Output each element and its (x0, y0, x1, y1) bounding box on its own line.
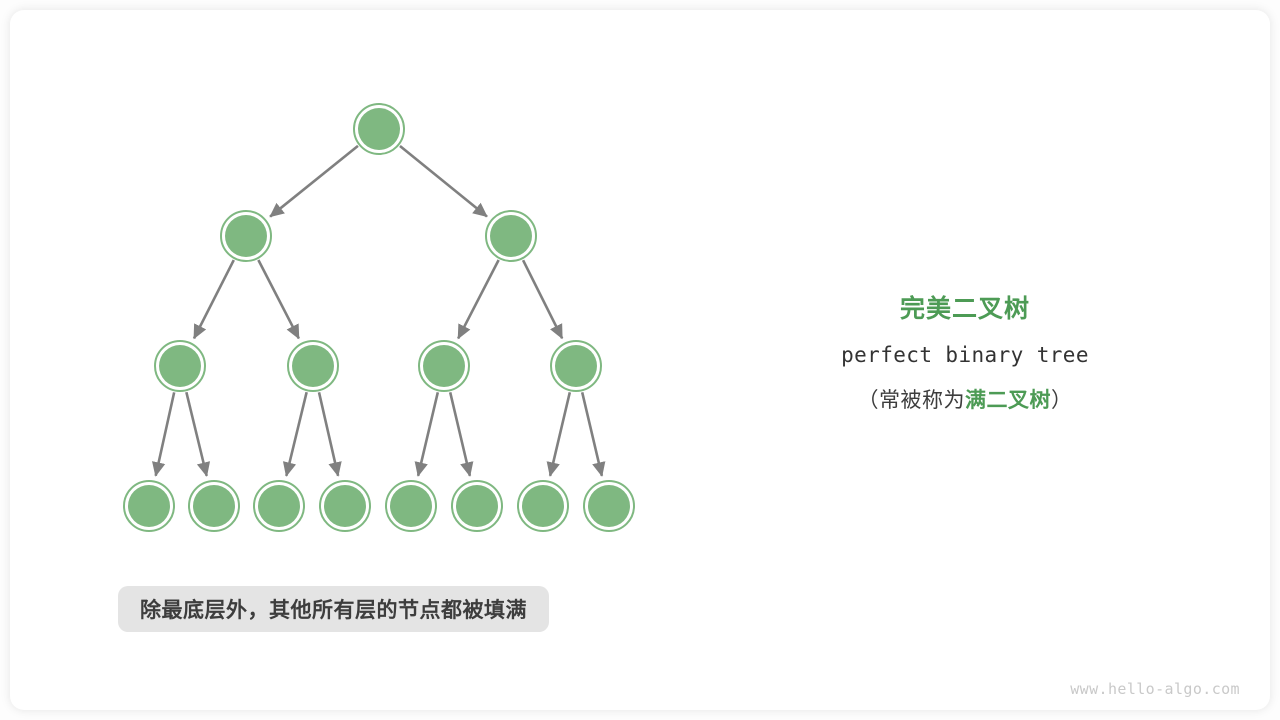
tree-node-body (358, 108, 400, 150)
tree-node (452, 481, 502, 531)
tree-edge (523, 260, 562, 338)
tree-node (486, 211, 536, 261)
tree-node-body (522, 485, 564, 527)
tree-node (419, 341, 469, 391)
tree-node-body (588, 485, 630, 527)
tree-node (288, 341, 338, 391)
tree-edge (286, 392, 306, 476)
tree-edge-layer (156, 146, 602, 476)
tree-edge (550, 392, 570, 476)
tree-node-body (292, 345, 334, 387)
alias-prefix: （常被称为 (858, 389, 966, 412)
term-label-block: 完美二叉树 perfect binary tree （常被称为满二叉树） (790, 292, 1140, 418)
tree-node (221, 211, 271, 261)
tree-node (584, 481, 634, 531)
alias-accent: 满二叉树 (965, 389, 1051, 412)
tree-node (189, 481, 239, 531)
tree-edge (400, 146, 487, 216)
tree-node-body (258, 485, 300, 527)
tree-edge (186, 392, 206, 476)
term-title-english: perfect binary tree (790, 338, 1140, 372)
tree-node-body (193, 485, 235, 527)
tree-edge (450, 392, 470, 476)
tree-node-body (159, 345, 201, 387)
tree-node (320, 481, 370, 531)
tree-edge (582, 392, 602, 476)
tree-edge (258, 260, 298, 338)
tree-edge (194, 260, 234, 338)
tree-node-body (490, 215, 532, 257)
term-alias-line: （常被称为满二叉树） (790, 384, 1140, 418)
tree-node-body (128, 485, 170, 527)
caption-text: 除最底层外，其他所有层的节点都被填满 (140, 594, 527, 624)
caption-pill: 除最底层外，其他所有层的节点都被填满 (118, 586, 549, 632)
tree-edge (156, 392, 174, 475)
alias-suffix: ） (1051, 389, 1073, 412)
tree-node-body (225, 215, 267, 257)
tree-node (155, 341, 205, 391)
tree-edge (270, 146, 358, 217)
tree-node (254, 481, 304, 531)
tree-edge (319, 392, 338, 475)
tree-edge (458, 260, 498, 338)
term-title-chinese: 完美二叉树 (790, 292, 1140, 326)
binary-tree-diagram (0, 0, 760, 580)
tree-edge (418, 392, 438, 476)
tree-node (354, 104, 404, 154)
tree-node (518, 481, 568, 531)
tree-node-body (324, 485, 366, 527)
screenshot-root: 除最底层外，其他所有层的节点都被填满 完美二叉树 perfect binary … (0, 0, 1280, 720)
tree-node (124, 481, 174, 531)
tree-node (386, 481, 436, 531)
tree-node-body (423, 345, 465, 387)
tree-node-body (555, 345, 597, 387)
tree-node (551, 341, 601, 391)
tree-node-layer (124, 104, 634, 531)
tree-node-body (390, 485, 432, 527)
site-watermark: www.hello-algo.com (1070, 680, 1240, 698)
tree-node-body (456, 485, 498, 527)
